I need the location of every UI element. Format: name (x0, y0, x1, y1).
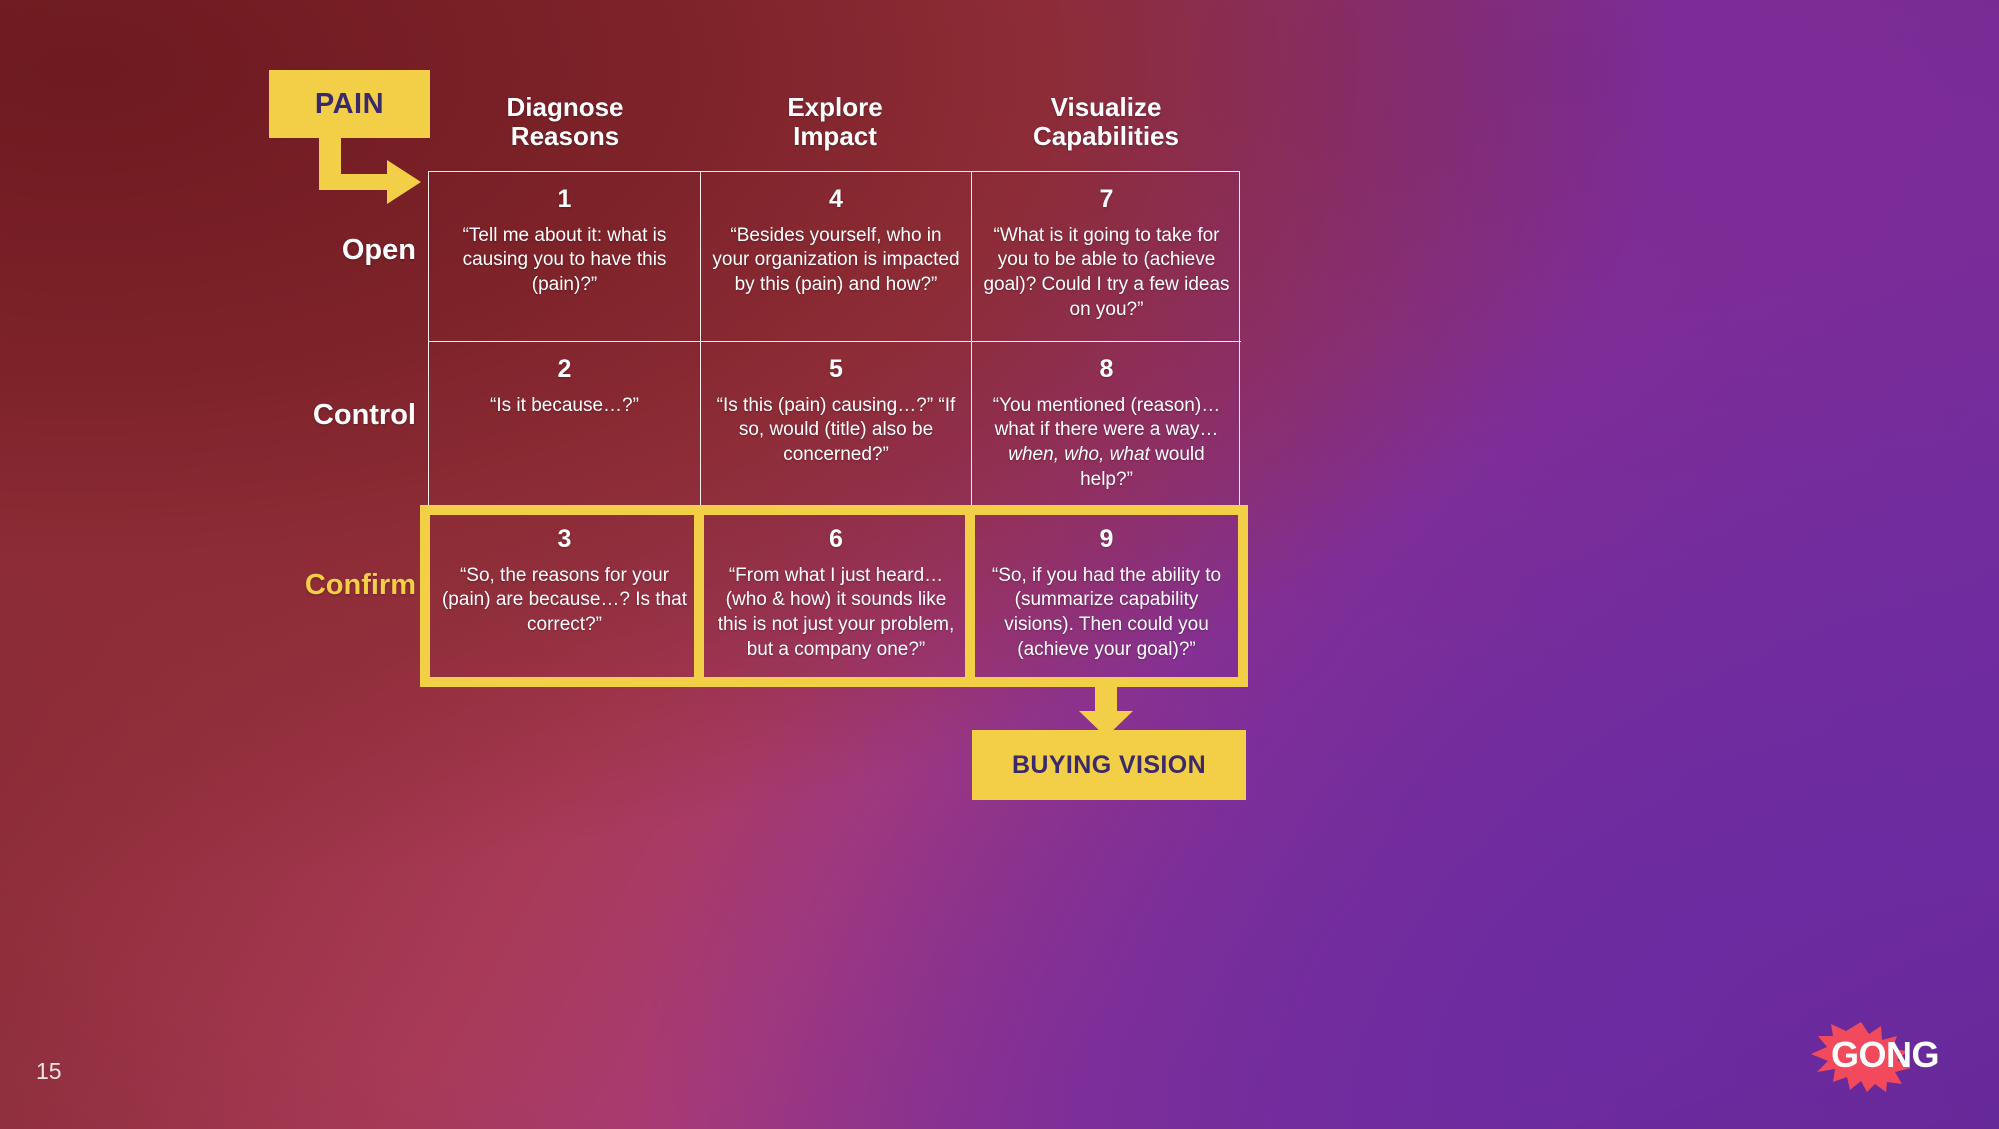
cell-text: “What is it going to take for you to be … (982, 224, 1231, 323)
row-label-confirm: Confirm (116, 569, 416, 602)
cell-text-italic: when, who, what (1008, 444, 1150, 465)
slide-canvas: PAIN Diagnose Reasons Explore Impact Vis… (0, 0, 1999, 1129)
cell-text: “From what I just heard… (who & how) it … (711, 564, 961, 663)
grid-cell-9: 9 “So, if you had the ability to (summar… (972, 512, 1241, 680)
gong-logo-text: GONG (1831, 1034, 1939, 1076)
column-header-explore-impact: Explore Impact (699, 93, 971, 151)
cell-number: 5 (829, 356, 843, 384)
cell-text: “Besides yourself, who in your organizat… (711, 224, 961, 298)
pain-badge-label: PAIN (315, 88, 384, 121)
row-label-open: Open (116, 234, 416, 267)
grid-cell-7: 7 “What is it going to take for you to b… (972, 172, 1241, 342)
cell-number: 3 (558, 526, 572, 554)
question-grid: 1 “Tell me about it: what is causing you… (428, 171, 1240, 679)
cell-number: 6 (829, 526, 843, 554)
grid-cell-1: 1 “Tell me about it: what is causing you… (429, 172, 701, 342)
column-header-line1: Diagnose (429, 93, 701, 122)
buying-vision-box: BUYING VISION (972, 730, 1246, 800)
column-header-line2: Capabilities (970, 122, 1242, 151)
cell-text: “So, if you had the ability to (summariz… (982, 564, 1231, 663)
pain-elbow-arrow-icon (269, 130, 429, 210)
pain-badge: PAIN (269, 70, 430, 138)
column-header-line2: Reasons (429, 122, 701, 151)
cell-number: 8 (1100, 356, 1114, 384)
grid-cell-5: 5 “Is this (pain) causing…?” “If so, wou… (701, 342, 972, 512)
column-header-line1: Explore (699, 93, 971, 122)
gong-logo: GONG (1809, 1020, 1969, 1092)
cell-text: “You mentioned (reason)… what if there w… (982, 394, 1231, 493)
grid-cell-4: 4 “Besides yourself, who in your organiz… (701, 172, 972, 342)
cell-text: “Is this (pain) causing…?” “If so, would… (711, 394, 961, 468)
row-label-control: Control (116, 399, 416, 432)
column-header-line1: Visualize (970, 93, 1242, 122)
grid-cell-6: 6 “From what I just heard… (who & how) i… (701, 512, 972, 680)
cell-text-prefix: “You mentioned (reason)… what if there w… (993, 395, 1220, 441)
column-header-visualize-capabilities: Visualize Capabilities (970, 93, 1242, 151)
column-header-diagnose-reasons: Diagnose Reasons (429, 93, 701, 151)
page-number: 15 (36, 1058, 62, 1085)
column-header-line2: Impact (699, 122, 971, 151)
cell-text: “Tell me about it: what is causing you t… (439, 224, 690, 298)
grid-cell-2: 2 “Is it because…?” (429, 342, 701, 512)
grid-cell-3: 3 “So, the reasons for your (pain) are b… (429, 512, 701, 680)
cell-number: 9 (1100, 526, 1114, 554)
cell-number: 1 (558, 186, 572, 214)
buying-vision-label: BUYING VISION (1012, 751, 1206, 780)
cell-text: “Is it because…?” (490, 394, 639, 419)
cell-text: “So, the reasons for your (pain) are bec… (439, 564, 690, 638)
cell-number: 7 (1100, 186, 1114, 214)
cell-number: 2 (558, 356, 572, 384)
grid-cell-8: 8 “You mentioned (reason)… what if there… (972, 342, 1241, 512)
cell-number: 4 (829, 186, 843, 214)
